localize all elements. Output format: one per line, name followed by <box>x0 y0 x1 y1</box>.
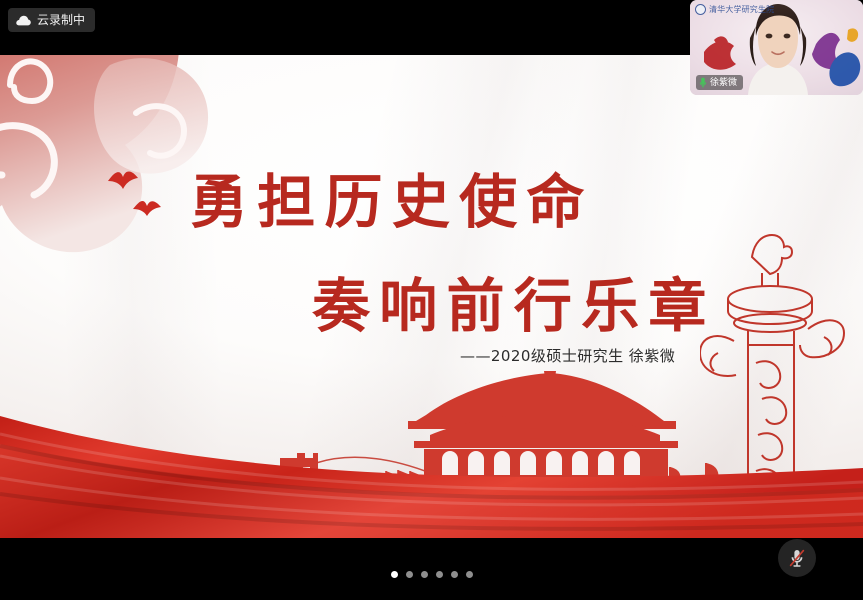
presentation-slide: 中华人民共和国万岁 世界人民大团结万岁 <box>0 55 863 538</box>
page-dot-5[interactable] <box>451 571 458 578</box>
participant-name: 徐紫微 <box>710 78 737 87</box>
cloud-icon <box>16 15 31 26</box>
cloud-recording-badge[interactable]: 云录制中 <box>8 8 95 32</box>
mic-mute-button[interactable] <box>778 539 816 577</box>
microphone-muted-icon <box>786 547 808 569</box>
university-watermark-text: 清华大学研究生院 <box>709 4 774 15</box>
webcam-thumbnail[interactable]: 清华大学研究生院 徐紫微 <box>690 0 863 95</box>
university-seal-icon <box>695 4 706 15</box>
microphone-icon <box>699 77 707 88</box>
page-dot-1[interactable] <box>391 571 398 578</box>
page-dot-2[interactable] <box>406 571 413 578</box>
red-ribbon-decoration <box>0 348 863 538</box>
zoom-meeting-window: 云录制中 <box>0 0 863 600</box>
slide-title-line-2: 奏响前行乐章 <box>312 259 716 343</box>
slide-title-line-1: 勇担历史使命 <box>190 155 594 239</box>
slide-page-dots[interactable] <box>0 571 863 578</box>
page-dot-3[interactable] <box>421 571 428 578</box>
page-dot-4[interactable] <box>436 571 443 578</box>
participant-name-badge: 徐紫微 <box>696 75 743 90</box>
recording-label: 云录制中 <box>37 14 85 26</box>
page-dot-6[interactable] <box>466 571 473 578</box>
university-watermark: 清华大学研究生院 <box>695 3 774 15</box>
